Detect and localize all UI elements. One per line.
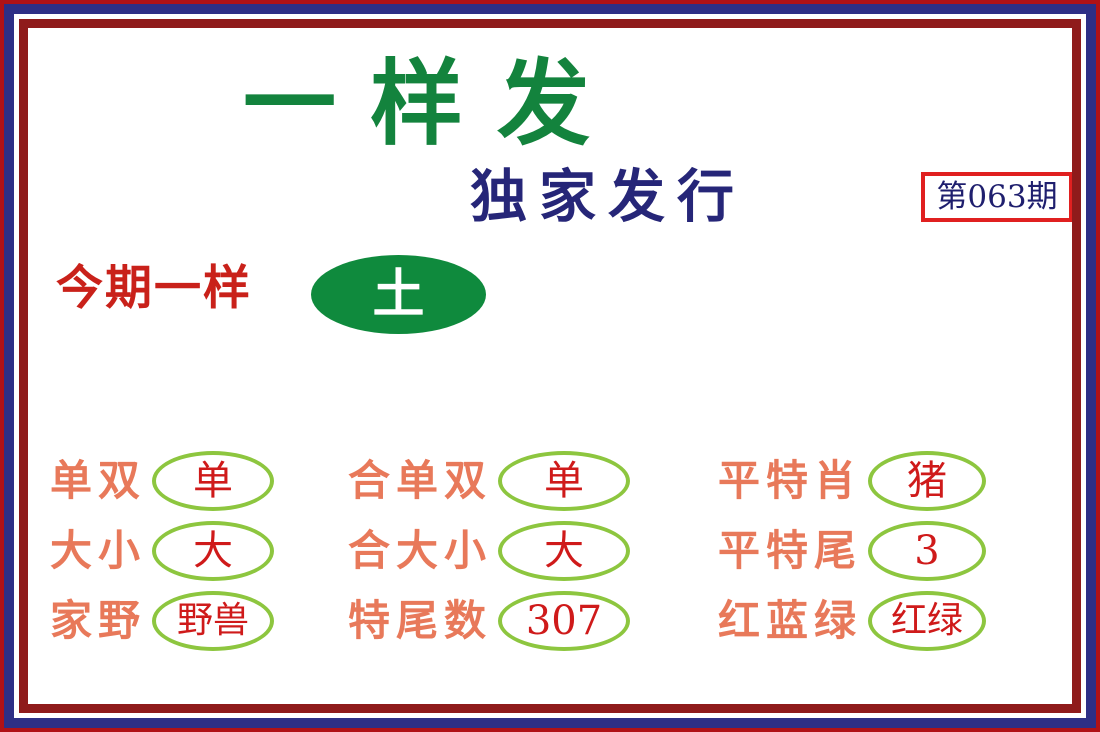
result-row: 大小 大 <box>50 516 340 586</box>
result-value-oval: 猪 <box>868 451 986 511</box>
result-value-oval: 单 <box>498 451 630 511</box>
result-label: 单双 <box>50 460 146 502</box>
result-label: 家野 <box>50 600 146 642</box>
result-value-oval: 大 <box>498 521 630 581</box>
period-badge: 第063期 <box>921 172 1072 222</box>
lottery-poster: 一样发 独家发行 第063期 今期一样 土 单双 单 大小 大 <box>0 0 1100 732</box>
result-value-oval: 野兽 <box>152 591 274 651</box>
results-column-2: 合单双 单 合大小 大 特尾数 307 <box>348 446 698 656</box>
result-value: 大 <box>544 531 584 571</box>
result-row: 合大小 大 <box>348 516 698 586</box>
result-label: 合单双 <box>348 460 492 502</box>
page-title: 一样发 <box>243 58 624 151</box>
result-row: 平特尾 3 <box>718 516 1072 586</box>
result-label: 合大小 <box>348 530 492 572</box>
results-column-3: 平特肖 猪 平特尾 3 红蓝绿 红绿 <box>718 446 1072 656</box>
today-element-value: 土 <box>372 269 424 321</box>
result-row: 特尾数 307 <box>348 586 698 656</box>
result-row: 单双 单 <box>50 446 340 516</box>
result-value: 单 <box>544 461 584 501</box>
result-value-oval: 红绿 <box>868 591 986 651</box>
result-label: 红蓝绿 <box>718 600 862 642</box>
result-label: 特尾数 <box>348 600 492 642</box>
result-label: 平特肖 <box>718 460 862 502</box>
result-label: 平特尾 <box>718 530 862 572</box>
result-row: 合单双 单 <box>348 446 698 516</box>
results-grid: 单双 单 大小 大 家野 野兽 <box>28 446 1072 656</box>
result-value-oval: 307 <box>498 591 630 651</box>
result-value: 3 <box>914 531 939 571</box>
result-value: 大 <box>193 531 233 571</box>
result-row: 家野 野兽 <box>50 586 340 656</box>
subtitle: 独家发行 <box>470 168 746 225</box>
result-row: 红蓝绿 红绿 <box>718 586 1072 656</box>
result-value: 猪 <box>907 461 947 501</box>
today-element-label: 今期一样 <box>56 265 252 312</box>
result-value-oval: 大 <box>152 521 274 581</box>
result-label: 大小 <box>50 530 146 572</box>
result-value: 单 <box>193 461 233 501</box>
result-value-oval: 3 <box>868 521 986 581</box>
poster-content-area: 一样发 独家发行 第063期 今期一样 土 单双 单 大小 大 <box>28 28 1072 704</box>
result-value-oval: 单 <box>152 451 274 511</box>
period-badge-label: 第063期 <box>936 182 1057 213</box>
today-element-oval: 土 <box>311 255 486 334</box>
result-row: 平特肖 猪 <box>718 446 1072 516</box>
result-value: 红绿 <box>891 603 963 639</box>
results-column-1: 单双 单 大小 大 家野 野兽 <box>50 446 340 656</box>
result-value: 野兽 <box>177 603 249 639</box>
result-value: 307 <box>526 601 602 641</box>
